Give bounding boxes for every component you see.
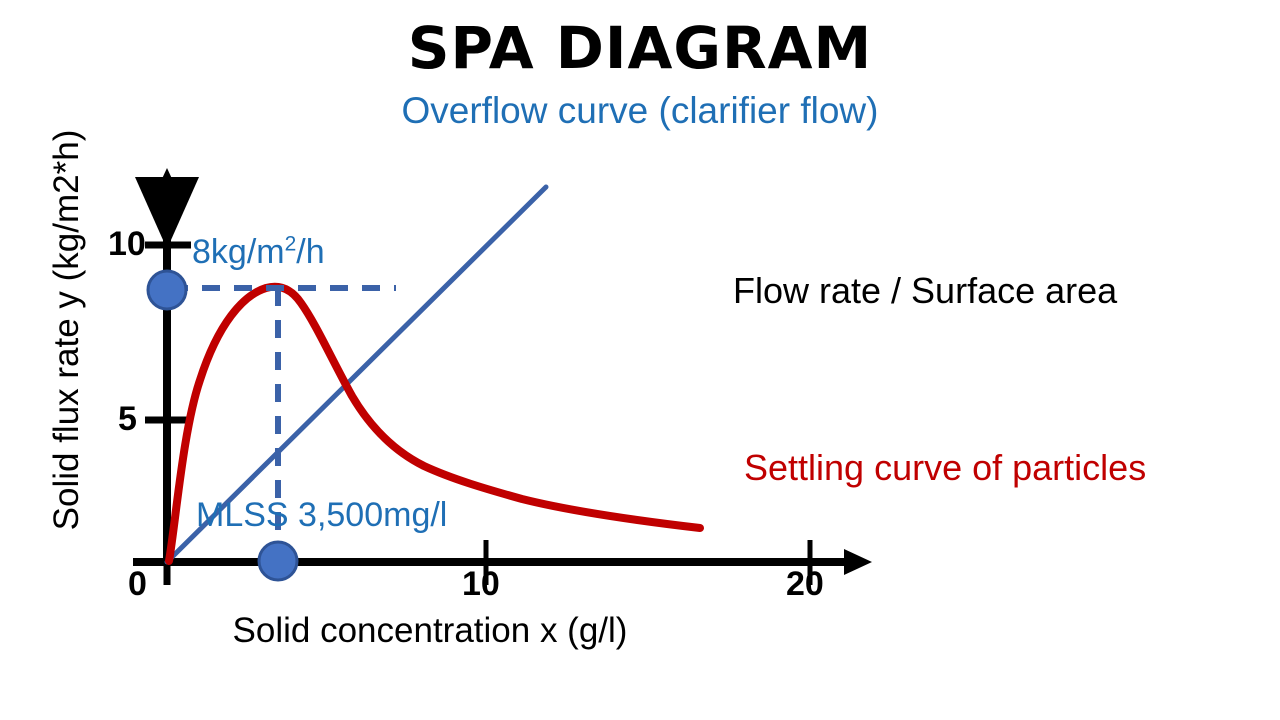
mlss-annotation: MLSS 3,500mg/l <box>196 496 447 535</box>
flux-marker[interactable] <box>148 271 186 309</box>
flux-annotation-suffix: /h <box>296 233 324 271</box>
settling-curve-note: Settling curve of particles <box>744 447 1146 489</box>
y-axis-title: Solid flux rate y (kg/m2*h) <box>47 95 87 565</box>
flux-annotation-prefix: 8kg/m <box>192 233 285 271</box>
flux-annotation-exponent: 2 <box>285 233 297 256</box>
chart-canvas: SPA DIAGRAM Overflow curve (clarifier fl… <box>0 0 1280 720</box>
y-axis-arrow-head <box>154 168 180 196</box>
x-axis-arrow-head <box>844 549 872 575</box>
flux-annotation: 8kg/m2/h <box>192 233 325 272</box>
flow-rate-note: Flow rate / Surface area <box>733 270 1117 312</box>
mlss-marker[interactable] <box>259 542 297 580</box>
x-axis-title: Solid concentration x (g/l) <box>120 611 740 651</box>
x-tick-label-20: 20 <box>786 565 824 604</box>
y-tick-label-5: 5 <box>118 400 137 439</box>
x-tick-label-10: 10 <box>462 565 500 604</box>
x-tick-label-0: 0 <box>128 565 147 604</box>
y-tick-label-10: 10 <box>108 225 146 264</box>
